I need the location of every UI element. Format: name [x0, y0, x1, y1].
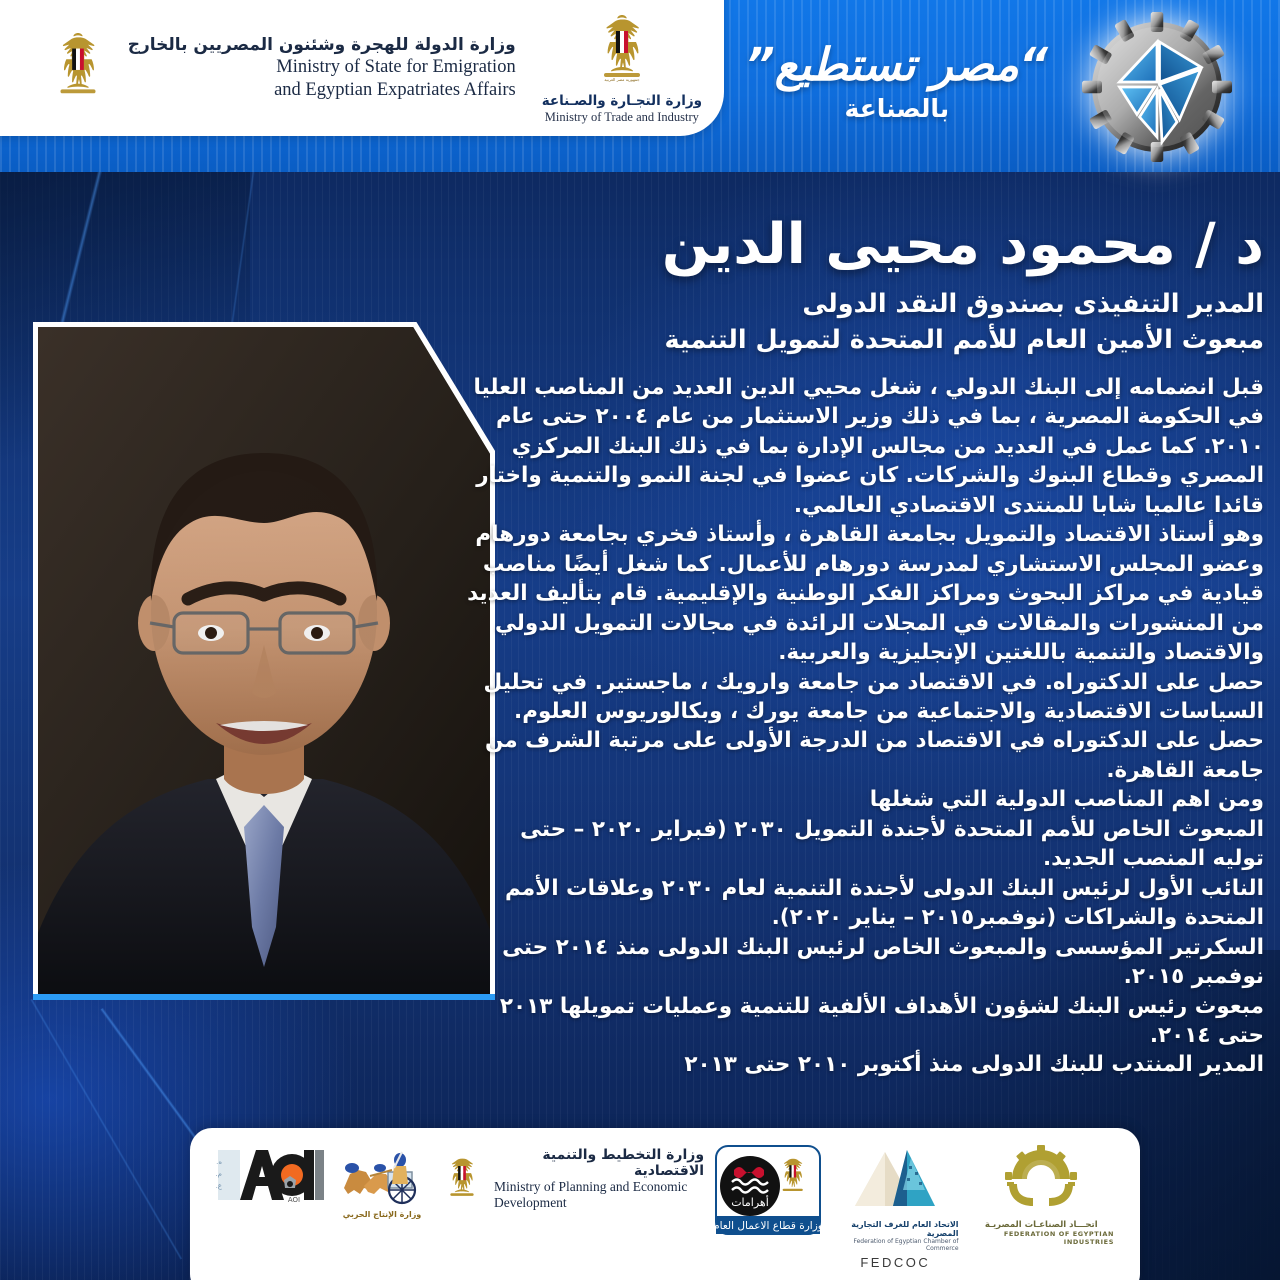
portrait-photo	[38, 327, 490, 995]
partner-logo-military-production: وزارة الإنتاج الحربي	[336, 1144, 428, 1219]
profile-role-line1: المدير التنفيذى بصندوق النقد الدولى	[464, 287, 1264, 321]
light-ray-4	[30, 999, 183, 1260]
profile-content: د / محمود محيى الدين المدير التنفيذى بصن…	[464, 214, 1264, 1080]
partner-name-en: Federation of Egyptian Chamber of Commer…	[832, 1238, 959, 1252]
bio-paragraph: وهو أستاذ الاقتصاد والتمويل بجامعة القاه…	[464, 520, 1264, 667]
emigration-ministry-name-ar: وزارة الدولة للهجرة وشئنون المصريين بالخ…	[128, 35, 516, 56]
partner-logo-fei: اتحـــاد الصناعـات المصريـة FEDERATION O…	[969, 1144, 1114, 1246]
partner-name-en: FEDERATION OF EGYPTIAN INDUSTRIES	[969, 1230, 1114, 1246]
partner-name-ar: وزارة الإنتاج الحربي	[343, 1210, 422, 1219]
svg-text:جمهورية مصر العربية: جمهورية مصر العربية	[604, 77, 640, 82]
bio-paragraph: النائب الأول لرئيس البنك الدولى لأجندة ا…	[464, 874, 1264, 933]
bio-paragraph: قبل انضمامه إلى البنك الدولي ، شغل محيي …	[464, 373, 1264, 520]
portrait-bottom-accent	[33, 994, 495, 1000]
partner-acronym: AOI	[288, 1196, 300, 1204]
svg-text:أهرامات: أهرامات	[731, 1195, 769, 1209]
portrait-photo-clip	[38, 327, 490, 995]
svg-text:م.ص.ن: م.ص.ن	[216, 1170, 222, 1178]
bio-paragraph: المدير المنتدب للبنك الدولى منذ أكتوبر ٢…	[464, 1050, 1264, 1079]
public-business-sector-ministry-icon: أهرامات وزارة قطاع الاعمال العام	[714, 1144, 822, 1236]
svg-text:ه.ع.ت: ه.ع.ت	[216, 1158, 222, 1166]
emigration-ministry-name-en-line2: and Egyptian Expatriates Affairs	[128, 79, 516, 101]
partner-name-ar: الاتحاد العام للغرف التجارية المصرية	[832, 1220, 959, 1238]
emigration-ministry-logo: وزارة الدولة للهجرة وشئنون المصريين بالخ…	[42, 22, 516, 114]
profile-biography: قبل انضمامه إلى البنك الدولي ، شغل محيي …	[464, 373, 1264, 1080]
partner-logo-planning-ministry: وزارة التخطيط والتنمية الاقتصادية Minist…	[438, 1144, 704, 1214]
poster-canvas: جمهورية مصر العربية وزارة التجـارة والصـ…	[0, 0, 1280, 1280]
bio-paragraph: السكرتير المؤسسى والمبعوث الخاص لرئيس ال…	[464, 933, 1264, 992]
trade-ministry-name-ar: وزارة التجـارة والصـناعة	[542, 93, 702, 109]
header-white-panel: جمهورية مصر العربية وزارة التجـارة والصـ…	[0, 0, 724, 136]
partner-logo-fedcoc: الاتحاد العام للغرف التجارية المصرية Fed…	[832, 1144, 959, 1270]
partner-acronym: FEDCOC	[860, 1255, 930, 1270]
egypt-eagle-emblem-icon: جمهورية مصر العربية	[585, 11, 659, 91]
partner-name-en-line2: Development	[494, 1195, 704, 1211]
page-title: د / محمود محيى الدين	[464, 214, 1264, 277]
fedcoc-pyramid-icon	[849, 1144, 941, 1216]
military-production-chariot-icon	[336, 1144, 428, 1208]
bio-paragraph: حصل على الدكتوراه. في الاقتصاد من جامعة …	[464, 668, 1264, 786]
aoi-logo-icon: ه.ع.تم.ص.نع.ر.ب AOI	[216, 1144, 326, 1206]
bio-paragraph: مبعوث رئيس البنك لشؤون الأهداف الألفية ل…	[464, 992, 1264, 1051]
partner-logo-aoi: ه.ع.تم.ص.نع.ر.ب AOI	[216, 1144, 326, 1206]
gear-industry-logo-icon	[1082, 12, 1232, 162]
federation-egyptian-industries-icon	[999, 1144, 1083, 1216]
bio-paragraph: المبعوث الخاص للأمم المتحدة لأجندة التمو…	[464, 815, 1264, 874]
partner-name-ar: وزارة التخطيط والتنمية الاقتصادية	[494, 1147, 704, 1179]
partner-logos-bar: اتحـــاد الصناعـات المصريـة FEDERATION O…	[190, 1128, 1140, 1280]
partner-name-ar: اتحـــاد الصناعـات المصريـة	[985, 1220, 1098, 1230]
planning-ministry-eagle-icon	[438, 1144, 486, 1214]
svg-text:ع.ر.ب: ع.ر.ب	[216, 1182, 223, 1190]
emigration-ministry-name-en-line1: Ministry of State for Emigration	[128, 56, 516, 78]
partner-logo-public-business: أهرامات وزارة قطاع الاعمال العام	[714, 1144, 822, 1236]
bio-paragraph: ومن اهم المناصب الدولية التي شغلها	[464, 785, 1264, 814]
campaign-slogan-sub: بالصناعة	[746, 96, 1048, 121]
campaign-slogan-main: “مصر تستطيع”	[746, 42, 1048, 87]
partner-name-ar: وزارة قطاع الاعمال العام	[714, 1220, 822, 1232]
partner-name-en-line1: Ministry of Planning and Economic	[494, 1179, 704, 1195]
profile-role-line2: مبعوث الأمين العام للأمم المتحدة لتمويل …	[464, 323, 1264, 357]
campaign-slogan: “مصر تستطيع” بالصناعة	[746, 42, 1048, 121]
egypt-eagle-emblem-icon	[42, 22, 114, 114]
trade-ministry-logo: جمهورية مصر العربية وزارة التجـارة والصـ…	[542, 11, 702, 125]
portrait-frame	[33, 322, 495, 1000]
trade-ministry-name-en: Ministry of Trade and Industry	[545, 110, 699, 125]
